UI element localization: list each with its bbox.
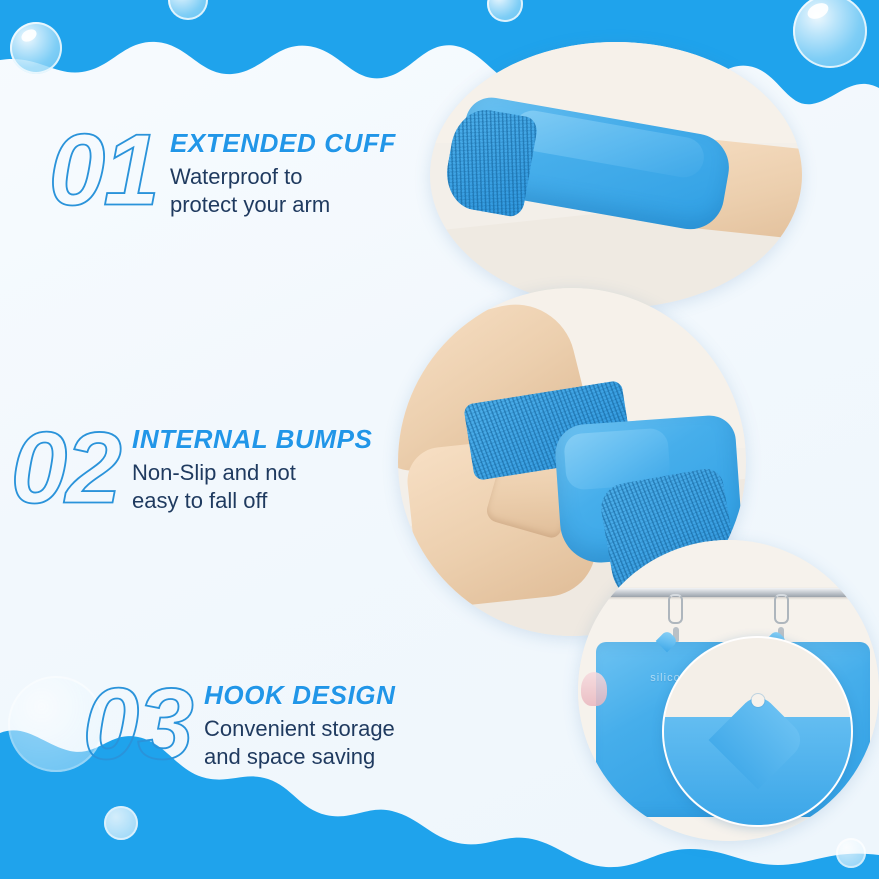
background-prop <box>581 672 607 706</box>
bubble-icon <box>793 0 867 68</box>
feature-title-1: EXTENDED CUFF <box>170 130 396 157</box>
bubble-glint-icon <box>805 0 831 22</box>
feature-number-2: 02 <box>14 408 122 526</box>
photo-hook-design: silicone gloves <box>578 540 879 841</box>
feature-item-3: 03 HOOK DESIGN Convenient storage and sp… <box>86 664 396 782</box>
hanging-rod <box>602 588 879 597</box>
feature-list: 01 EXTENDED CUFF Waterproof to protect y… <box>0 0 430 879</box>
feature-number-text: 03 <box>83 668 194 781</box>
feature-number-text: 02 <box>11 412 122 525</box>
feature-line-3a: Convenient storage <box>204 715 396 743</box>
feature-item-2: 02 INTERNAL BUMPS Non-Slip and not easy … <box>14 408 372 526</box>
feature-item-1: 01 EXTENDED CUFF Waterproof to protect y… <box>52 110 396 228</box>
feature-line-3b: and space saving <box>204 743 396 771</box>
hook-hole-icon <box>751 694 764 707</box>
feature-number-1: 01 <box>52 110 160 228</box>
photo-extended-cuff <box>430 42 802 308</box>
feature-number-text: 01 <box>49 114 158 227</box>
feature-title-2: INTERNAL BUMPS <box>132 426 372 453</box>
feature-line-1a: Waterproof to <box>170 163 396 191</box>
hook-ring <box>668 594 683 624</box>
feature-line-2b: easy to fall off <box>132 487 372 515</box>
feature-title-3: HOOK DESIGN <box>204 682 396 709</box>
feature-line-2a: Non-Slip and not <box>132 459 372 487</box>
feature-line-1b: protect your arm <box>170 191 396 219</box>
infographic-poster: silicone gloves 01 EXTENDED CUFF Waterpr… <box>0 0 879 879</box>
bubble-icon <box>836 838 866 868</box>
bubble-icon <box>487 0 523 22</box>
feature-number-3: 03 <box>86 664 194 782</box>
hook-ring <box>774 594 789 624</box>
hook-hole-detail-inset <box>662 636 853 827</box>
